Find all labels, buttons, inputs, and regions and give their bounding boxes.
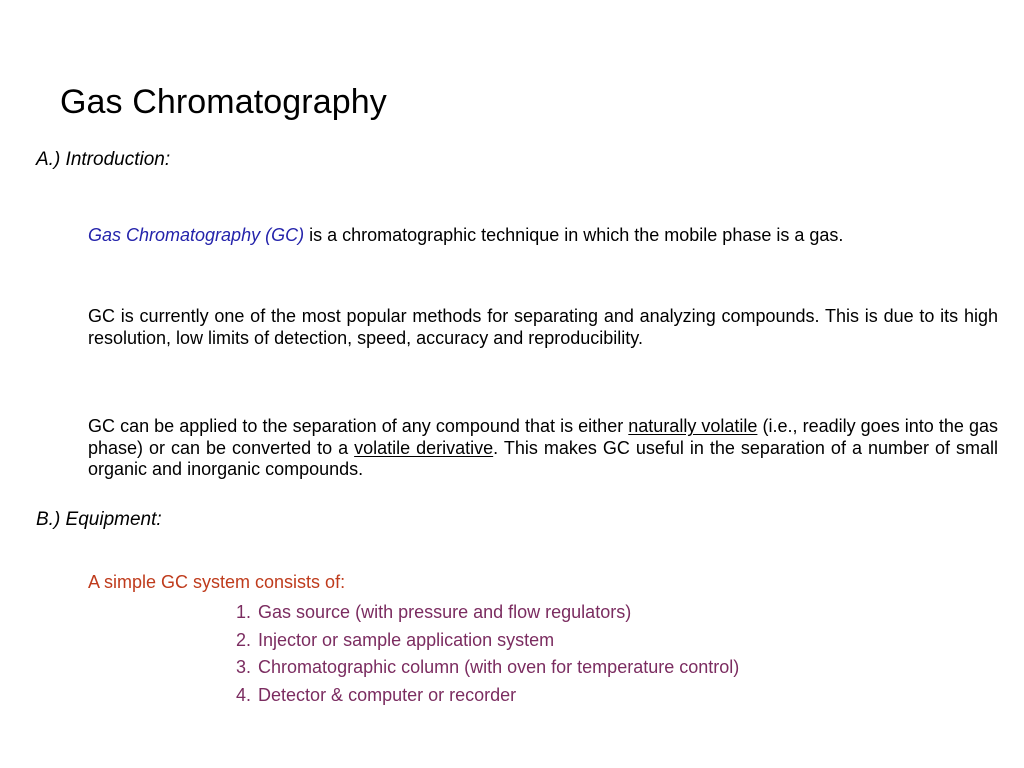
list-item: 1. Gas source (with pressure and flow re… [236, 599, 739, 627]
term-volatile-derivative: volatile derivative [354, 438, 493, 458]
list-item-number: 1. [236, 602, 251, 622]
list-item-label: Chromatographic column (with oven for te… [258, 657, 739, 677]
page-title: Gas Chromatography [60, 81, 387, 123]
introduction-paragraph-popularity: GC is currently one of the most popular … [88, 306, 998, 349]
section-heading-introduction: A.) Introduction: [36, 148, 170, 172]
list-item: 2. Injector or sample application system [236, 627, 739, 655]
introduction-paragraph-definition: Gas Chromatography (GC) is a chromatogra… [88, 225, 998, 247]
list-item-label: Injector or sample application system [258, 630, 554, 650]
list-item-label: Gas source (with pressure and flow regul… [258, 602, 631, 622]
gc-definition-rest: is a chromatographic technique in which … [304, 225, 843, 245]
equipment-component-list: 1. Gas source (with pressure and flow re… [236, 599, 739, 709]
gc-definition-term: Gas Chromatography (GC) [88, 225, 304, 245]
equipment-lead-in: A simple GC system consists of: [88, 571, 345, 593]
volatility-text-part-1: GC can be applied to the separation of a… [88, 416, 628, 436]
list-item-number: 4. [236, 685, 251, 705]
introduction-paragraph-volatility: GC can be applied to the separation of a… [88, 416, 998, 481]
list-item: 3. Chromatographic column (with oven for… [236, 654, 739, 682]
list-item-number: 2. [236, 630, 251, 650]
slide-canvas: Gas Chromatography A.) Introduction: Gas… [0, 0, 1024, 768]
list-item-number: 3. [236, 657, 251, 677]
section-heading-equipment: B.) Equipment: [36, 508, 162, 532]
term-naturally-volatile: naturally volatile [628, 416, 757, 436]
list-item: 4. Detector & computer or recorder [236, 682, 739, 710]
list-item-label: Detector & computer or recorder [258, 685, 516, 705]
